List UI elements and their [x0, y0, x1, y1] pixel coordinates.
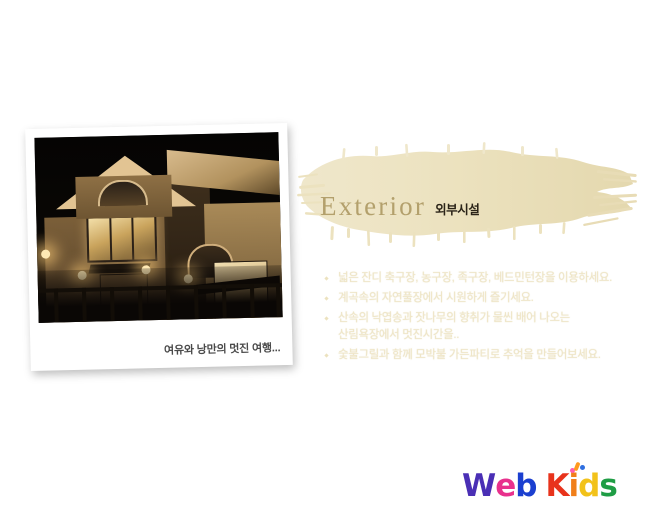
logo-letter-d: d — [578, 471, 599, 502]
logo-letter-e: e — [495, 471, 515, 502]
photo-caption: 여유와 낭만의 멋진 여행... — [164, 339, 281, 358]
logo-letter-b: b — [515, 471, 536, 502]
logo-letter-k: K — [545, 471, 568, 502]
list-item: 넓은 잔디 축구장, 농구장, 족구장, 베드민턴장을 이용하세요. — [322, 270, 632, 287]
page-root: 여유와 낭만의 멋진 여행... — [0, 0, 650, 510]
page-title-en: Exterior — [320, 193, 426, 220]
web-kids-logo[interactable]: W e b K i d s — [462, 462, 617, 502]
page-title-ko: 외부시설 — [435, 204, 479, 217]
logo-letter-i: i — [568, 471, 578, 502]
list-item: 계곡속의 자연풀장에서 시원하게 즐기세요. — [322, 290, 632, 307]
logo-letter-s: s — [599, 471, 616, 502]
logo-letter-w: W — [462, 471, 495, 502]
photo-deck — [38, 265, 283, 323]
photo-large-window — [86, 215, 157, 263]
photo-card: 여유와 낭만의 멋진 여행... — [25, 123, 293, 371]
section-title: Exterior 외부시설 — [320, 193, 479, 220]
feature-list: 넓은 잔디 축구장, 농구장, 족구장, 베드민턴장을 이용하세요. 계곡속의 … — [322, 270, 632, 367]
list-item: 숯불그릴과 함께 모박불 가든파티로 추억을 만들어보세요. — [322, 347, 632, 364]
list-item: 산속의 낙엽송과 잣나무의 향취가 물씬 배어 나오는 산림욕장에서 멋진시간을… — [322, 310, 632, 344]
exterior-photo — [34, 132, 282, 323]
